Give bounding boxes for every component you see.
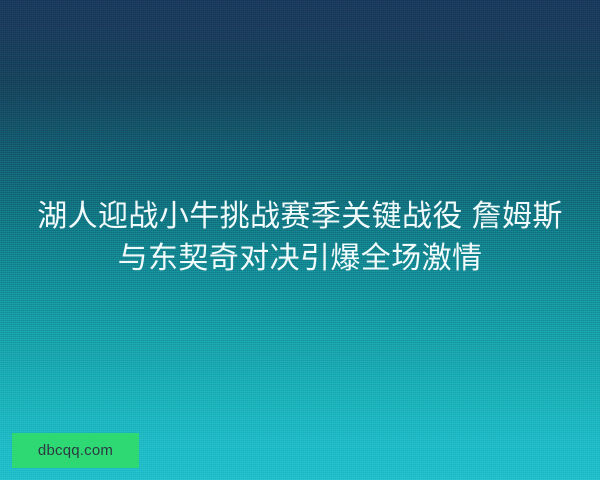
watermark-label: dbcqq.com: [38, 443, 113, 458]
headline-text: 湖人迎战小牛挑战赛季关键战役 詹姆斯 与东契奇对决引爆全场激情: [0, 196, 600, 280]
title-card-canvas: 湖人迎战小牛挑战赛季关键战役 詹姆斯 与东契奇对决引爆全场激情 dbcqq.co…: [0, 0, 600, 480]
headline-line-2: 与东契奇对决引爆全场激情: [28, 238, 572, 280]
headline-line-1: 湖人迎战小牛挑战赛季关键战役 詹姆斯: [28, 196, 572, 238]
watermark-badge: dbcqq.com: [12, 433, 139, 468]
